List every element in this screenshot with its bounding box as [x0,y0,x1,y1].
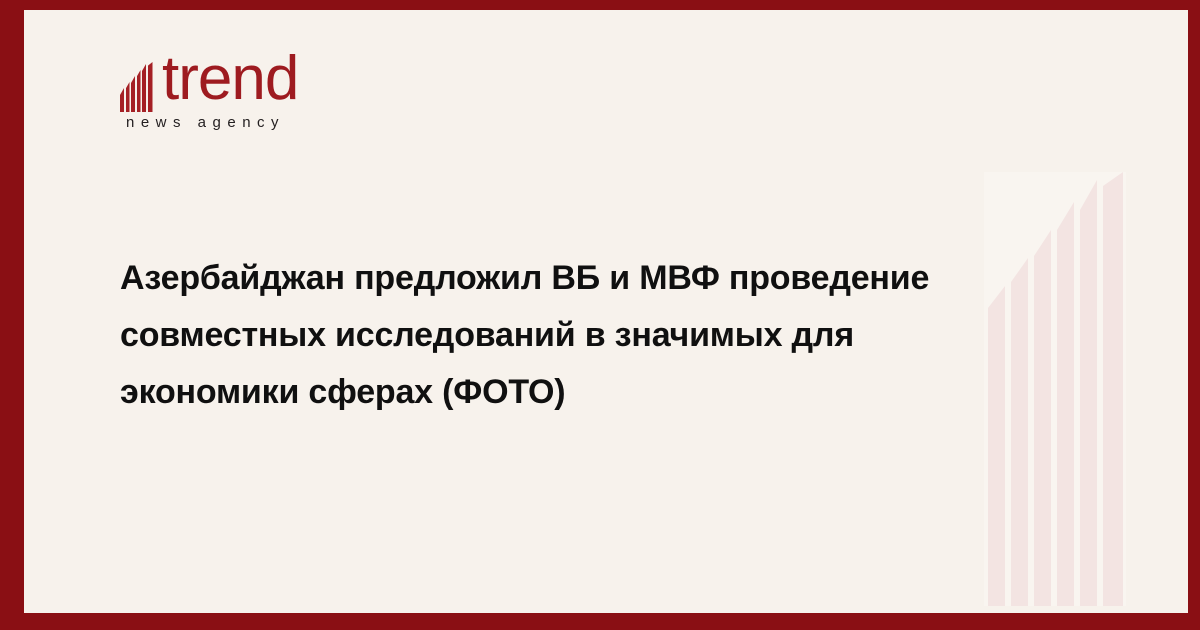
watermark-bar [1103,172,1123,606]
headline-line: совместных исследований в значимых для [120,307,1070,364]
logo-wordmark: trend [162,48,298,110]
ascending-bars-icon [120,62,166,112]
logo-row: trend [120,54,380,112]
logo-bar [131,76,135,112]
logo-bar [120,88,124,112]
logo-bar [126,82,130,112]
headline-line: Азербайджан предложил ВБ и МВФ проведени… [120,250,1070,307]
logo-bar [137,70,141,112]
card-canvas: trend news agency Азербайджан предложил … [24,10,1188,613]
social-share-card: trend news agency Азербайджан предложил … [0,0,1200,630]
headline: Азербайджан предложил ВБ и МВФ проведени… [120,250,1070,421]
logo-bar [142,64,146,112]
logo-bar [148,62,153,112]
watermark-bar [1080,180,1097,606]
trend-logo[interactable]: trend news agency [120,54,380,112]
logo-tagline: news agency [126,114,285,131]
headline-line: экономики сферах (ФОТО) [120,364,1070,421]
